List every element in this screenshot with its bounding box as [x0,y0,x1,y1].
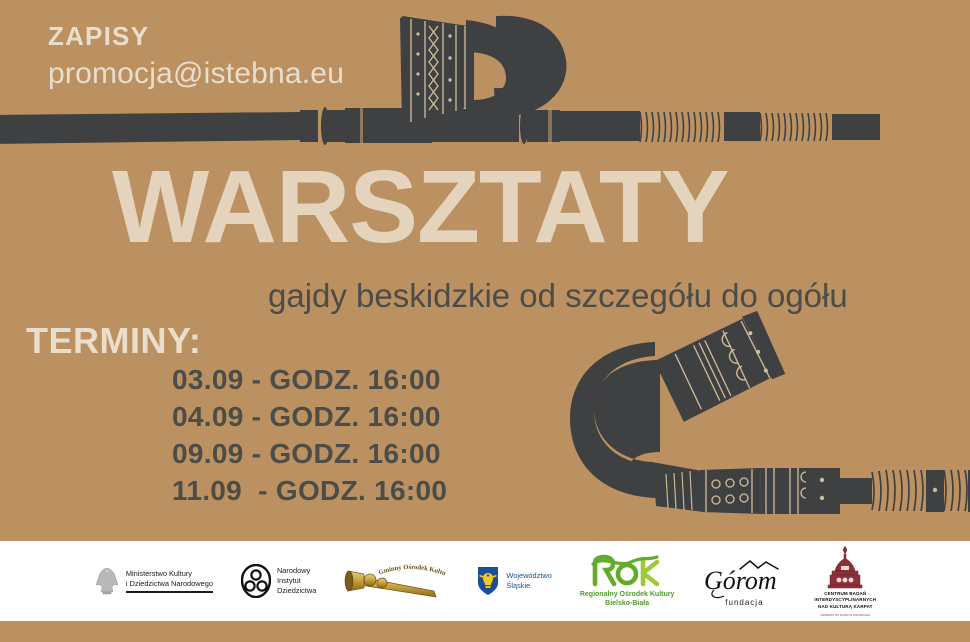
schedule-label: TERMINY: [26,323,201,359]
logo-wojewodztwo-slaskie: Województwo Śląskie [476,566,551,596]
logo-label: Narodowy Instytut Dziedzictwa [277,566,316,595]
logo-label: Ministerstwo Kultury i Dziedzictwa Narod… [126,569,213,589]
bottom-bagpipe-drone [570,308,970,514]
contact-email[interactable]: promocja@istebna.eu [48,54,344,93]
logo-sublabel: UNIWERSYTET ŚLĄSKI W KATOWICACH [820,614,870,617]
logo-label: CENTRUM BADAŃ INTERDYSCYPLINARNYCH NAD K… [814,591,876,610]
polish-eagle-icon [94,566,120,596]
contact-block: ZAPISY promocja@istebna.eu [48,22,344,93]
logo-gminny-osrodek-kultury: Gminny Ośrodek Kultury [344,561,448,601]
logo-label: Regionalny Ośrodek Kultury Bielsko-Biała [580,590,675,608]
divider [126,591,213,593]
mountain-script-icon: Górom [702,556,786,600]
list-item: 11.09 - GODZ. 16:00 [172,473,447,510]
schedule-list: 03.09 - GODZ. 16:00 04.09 - GODZ. 16:00 … [172,362,447,510]
zapisy-label: ZAPISY [48,22,344,52]
golden-horn-icon: Gminny Ośrodek Kultury [344,561,448,601]
sponsor-logo-strip: Ministerstwo Kultury i Dziedzictwa Narod… [0,541,970,621]
list-item: 03.09 - GODZ. 16:00 [172,362,447,399]
logo-regionalny-osrodek-kultury: Regionalny Ośrodek Kultury Bielsko-Biała [580,554,675,608]
logo-label: fundacja [725,598,763,607]
poster-canvas: ZAPISY promocja@istebna.eu WARSZTATY gaj… [0,0,970,642]
rok-icon [591,554,663,588]
logo-gorom-fundacja: Górom fundacja [702,556,786,607]
logo-wordmark: Górom [704,566,777,595]
page-subtitle: gajdy beskidzkie od szczegółu do ogółu [268,278,848,314]
list-item: 04.09 - GODZ. 16:00 [172,399,447,436]
logo-centrum-badan: CENTRUM BADAŃ INTERDYSCYPLINARNYCH NAD K… [814,545,876,617]
logo-ministerstwo-kultury: Ministerstwo Kultury i Dziedzictwa Narod… [94,566,213,596]
carpathian-church-icon [825,545,865,589]
page-title: WARSZTATY [112,155,729,258]
logo-narodowy-instytut-dziedzictwa: Narodowy Instytut Dziedzictwa [241,564,316,598]
trefoil-icon [241,564,271,598]
list-item: 09.09 - GODZ. 16:00 [172,436,447,473]
silesian-eagle-shield-icon [476,566,500,596]
logo-label: Województwo Śląskie [506,571,551,591]
